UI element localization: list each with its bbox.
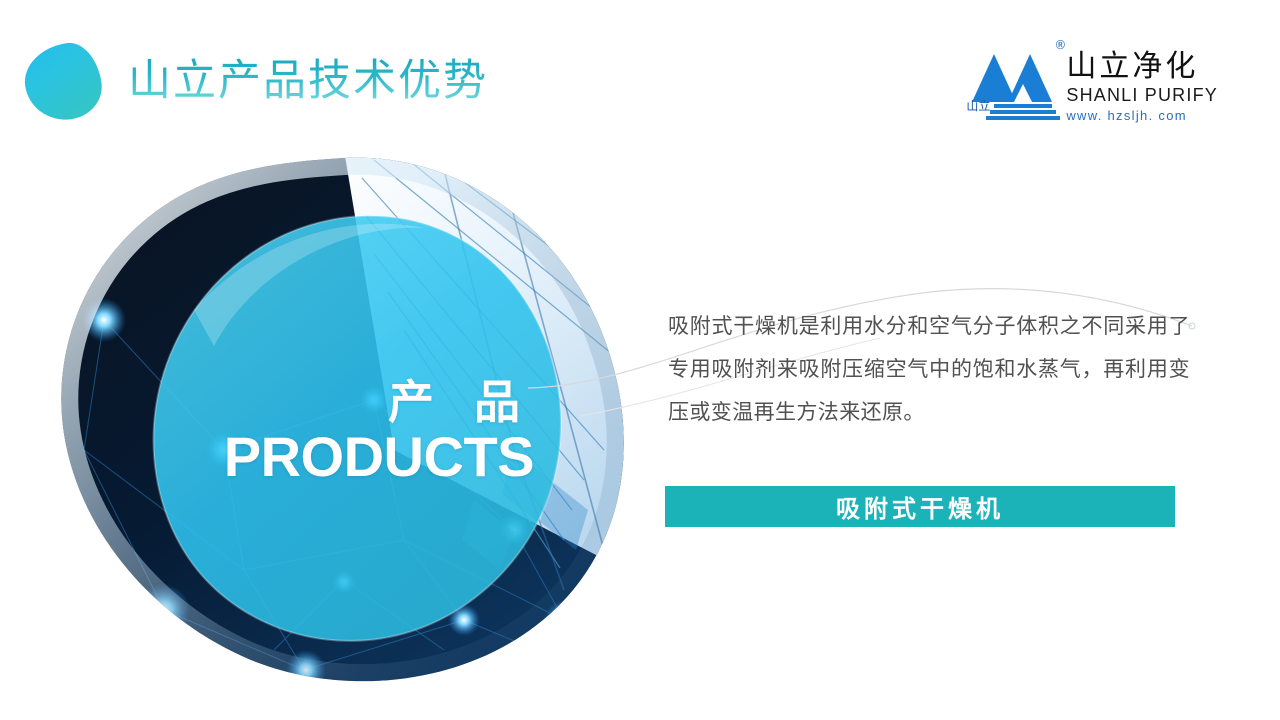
hero-artwork: 产 品 PRODUCTS [44, 150, 644, 690]
slide-root: 山立产品技术优势 ® 山立 山立净化 SHANLI PURIFY www. hz… [0, 0, 1280, 720]
registered-trademark-icon: ® [1054, 38, 1066, 52]
logo-company-en: SHANLI PURIFY [1066, 84, 1218, 107]
mountain-logo-icon: ® 山立 [968, 40, 1060, 122]
page-title: 山立产品技术优势 [128, 57, 488, 105]
product-name-banner[interactable]: 吸附式干燥机 [665, 486, 1175, 527]
logo-company-cn: 山立净化 [1066, 52, 1218, 82]
product-name-label: 吸附式干燥机 [836, 489, 1004, 524]
logo-text-block: 山立净化 SHANLI PURIFY www. hzsljh. com [1066, 40, 1218, 124]
blob-icon [20, 39, 106, 125]
brand-logo[interactable]: ® 山立 山立净化 SHANLI PURIFY www. hzsljh. com [968, 40, 1218, 124]
product-description: 吸附式干燥机是利用水分和空气分子体积之不同采用了专用吸附剂来吸附压缩空气中的饱和… [668, 305, 1190, 434]
logo-website[interactable]: www. hzsljh. com [1066, 108, 1218, 125]
logo-mark-label: 山立 [966, 97, 990, 114]
